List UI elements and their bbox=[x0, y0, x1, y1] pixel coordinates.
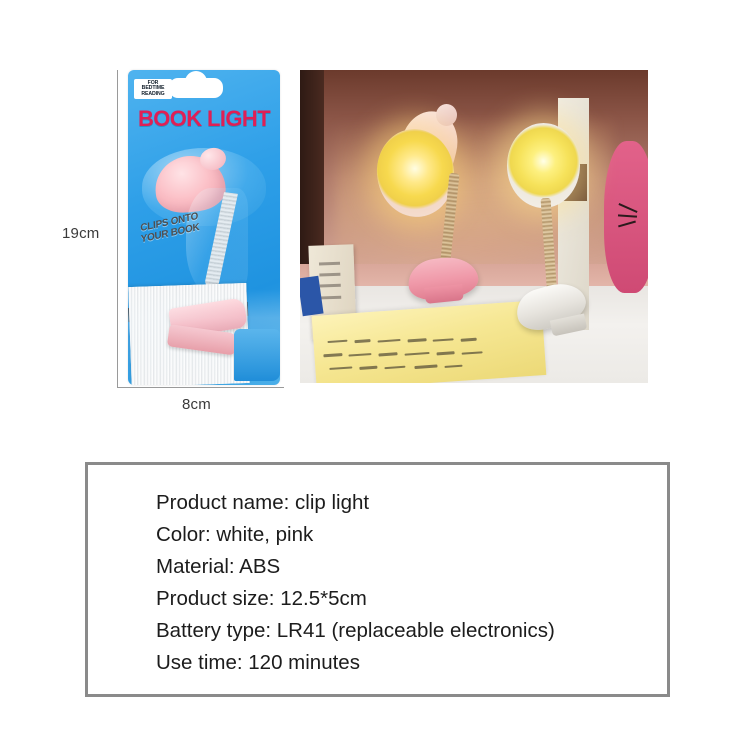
width-measure-line bbox=[118, 387, 284, 388]
badge-line-1: FOR BEDTIME bbox=[136, 81, 170, 92]
spec-line-battery-type: Battery type: LR41 (replaceable electron… bbox=[156, 615, 667, 647]
height-measure-line bbox=[117, 70, 118, 388]
product-spec-box: Product name: clip light Color: white, p… bbox=[85, 462, 670, 697]
product-spec-list: Product name: clip light Color: white, p… bbox=[88, 465, 667, 679]
pink-lamp-knob bbox=[436, 104, 457, 126]
package-hang-hole bbox=[169, 78, 223, 98]
spec-line-product-name: Product name: clip light bbox=[156, 487, 667, 519]
spec-line-material: Material: ABS bbox=[156, 551, 667, 583]
height-dimension-label: 19cm bbox=[62, 225, 99, 242]
bedtime-reading-badge: FOR BEDTIME READING bbox=[134, 79, 172, 99]
spec-line-color: Color: white, pink bbox=[156, 519, 667, 551]
width-dimension-label: 8cm bbox=[182, 396, 211, 413]
photo-pink-decor-object bbox=[596, 108, 648, 315]
photo-pink-decor-face bbox=[604, 141, 648, 294]
white-lamp-led-glow bbox=[507, 123, 580, 208]
spec-line-use-time: Use time: 120 minutes bbox=[156, 647, 667, 679]
package-title: BOOK LIGHT bbox=[128, 106, 280, 132]
spec-line-product-size: Product size: 12.5*5cm bbox=[156, 583, 667, 615]
product-photo bbox=[300, 70, 648, 383]
product-package-card: FOR BEDTIME READING BOOK LIGHT CLIPS ONT… bbox=[128, 70, 280, 385]
package-blue-flap bbox=[234, 329, 280, 381]
badge-line-2: READING bbox=[136, 92, 170, 97]
